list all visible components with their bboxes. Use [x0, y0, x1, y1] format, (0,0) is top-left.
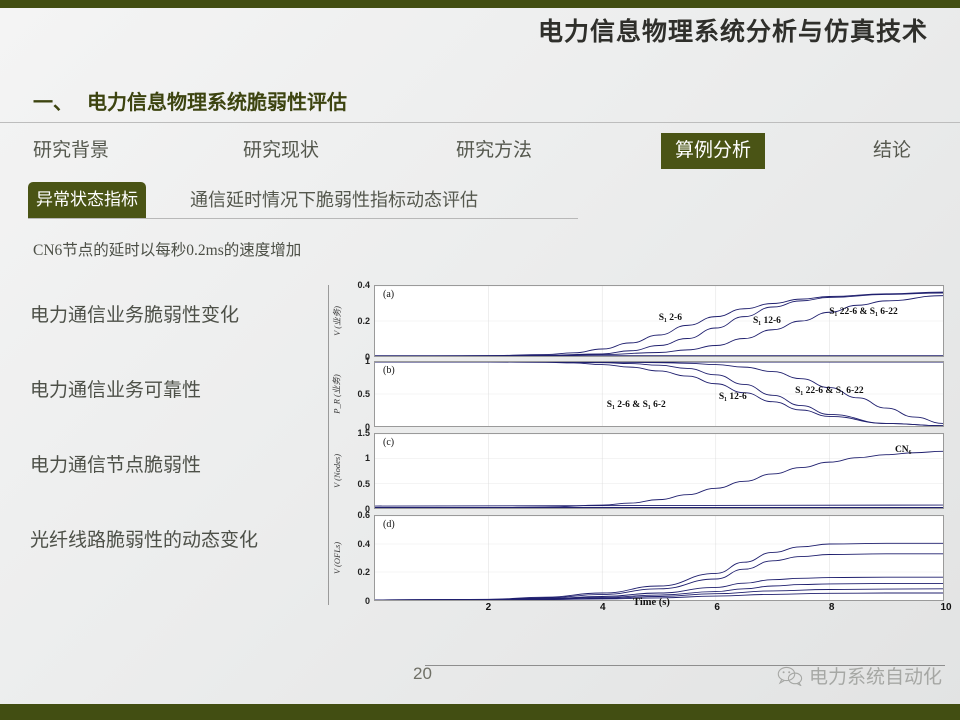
chart-b-yticks: 00.51	[346, 361, 372, 427]
wechat-icon	[777, 666, 803, 686]
presentation-title: 电力信息物理系统分析与仿真技术	[538, 12, 928, 48]
section-divider	[0, 122, 960, 123]
chart-d-svg	[375, 516, 943, 600]
top-accent-bar	[0, 0, 960, 8]
section-heading-text: 电力信息物理系统脆弱性评估	[87, 92, 347, 114]
chart-ytick-label: 1.5	[357, 428, 370, 438]
chart-d-ylabel: V (OFLs)	[330, 515, 344, 601]
chart-a-plot: (a) S₁ 2-6S₁ 12-6S₁ 22-6 & S₁ 6-22	[374, 285, 944, 357]
chart-xtick-label: 4	[600, 602, 606, 613]
metric-label-service-vulnerability: 电力通信业务脆弱性变化	[30, 300, 330, 327]
metric-label-service-reliability: 电力通信业务可靠性	[30, 375, 330, 402]
nav-tab-research-background[interactable]: 研究背景	[33, 133, 109, 169]
subsection-row: 异常状态指标 通信延时情况下脆弱性指标动态评估	[0, 182, 960, 218]
chart-ytick-label: 0	[365, 596, 370, 606]
metric-label-fiber-vulnerability: 光纤线路脆弱性的动态变化	[30, 525, 330, 552]
scenario-note: CN6节点的延时以每秒0.2ms的速度增加	[33, 238, 301, 260]
chart-curve-label: S₁ 12-6	[753, 316, 781, 326]
chart-c-panel-letter: (c)	[383, 437, 394, 448]
chart-ytick-label: 1	[365, 356, 370, 366]
chart-stack: V (业务) 00.20.4 (a) S₁ 2-6S₁ 12-6S₁ 22-6 …	[332, 285, 944, 615]
chart-xtick-label: 8	[829, 602, 835, 613]
chart-series-line	[375, 505, 943, 506]
chart-d-plot: (d)	[374, 515, 944, 601]
chart-curve-label: CN₆	[895, 445, 912, 455]
chart-xtick-label: 10	[940, 602, 951, 613]
subsection-title: 通信延时情况下脆弱性指标动态评估	[190, 182, 478, 218]
chart-series-line	[375, 292, 943, 356]
chart-curve-label: S₁ 22-6 & S₁ 6-22	[829, 307, 898, 317]
chart-d-panel-letter: (d)	[383, 519, 395, 530]
chart-ytick-label: 0.4	[357, 539, 370, 549]
chart-c-yticks: 00.511.5	[346, 433, 372, 509]
metric-label-list: 电力通信业务脆弱性变化 电力通信业务可靠性 电力通信节点脆弱性 光纤线路脆弱性的…	[30, 300, 330, 600]
chart-ytick-label: 0.5	[357, 479, 370, 489]
watermark: 电力系统自动化	[777, 662, 942, 689]
chart-a-yticks: 00.20.4	[346, 285, 372, 357]
chart-d-plotwrap: 00.20.40.6 (d)	[346, 515, 944, 601]
nav-tab-research-method[interactable]: 研究方法	[456, 133, 532, 169]
chart-curve-label: S₁ 22-6 & S₁ 6-22	[795, 386, 864, 396]
chart-curve-label: S₁ 2-6	[659, 313, 682, 323]
chart-panel-c: V (Nodes) 00.511.5 (c) CN₆	[332, 433, 944, 509]
chart-ytick-label: 1	[365, 453, 370, 463]
chart-ytick-label: 0.4	[357, 280, 370, 290]
chart-curve-label: S₁ 12-6	[719, 392, 747, 402]
subsection-tag[interactable]: 异常状态指标	[28, 182, 146, 218]
bottom-accent-bar	[0, 704, 960, 720]
chart-d-yticks: 00.20.40.6	[346, 515, 372, 601]
chart-series-line	[375, 296, 943, 356]
chart-xaxis-title: Time (s)	[633, 597, 670, 608]
section-heading: 一、电力信息物理系统脆弱性评估	[33, 86, 347, 115]
chart-series-line	[375, 293, 943, 356]
chart-series-line	[375, 543, 943, 600]
section-number: 一、	[33, 92, 73, 114]
chart-a-ylabel: V (业务)	[330, 285, 344, 357]
chart-xtick-label: 6	[714, 602, 720, 613]
chart-panel-b: P_R (业务) 00.51 (b) S₁ 2-6 & S₁ 6-2S₁ 12-…	[332, 361, 944, 427]
chart-xtick-label: 2	[486, 602, 492, 613]
chart-b-plotwrap: 00.51 (b) S₁ 2-6 & S₁ 6-2S₁ 12-6S₁ 22-6 …	[346, 361, 944, 427]
chart-a-panel-letter: (a)	[383, 289, 394, 300]
chart-b-plot: (b) S₁ 2-6 & S₁ 6-2S₁ 12-6S₁ 22-6 & S₁ 6…	[374, 361, 944, 427]
watermark-text: 电力系统自动化	[809, 662, 942, 689]
chart-c-svg	[375, 434, 943, 508]
slide-root: 电力信息物理系统分析与仿真技术 一、电力信息物理系统脆弱性评估 研究背景 研究现…	[0, 0, 960, 720]
chart-ytick-label: 0.5	[357, 389, 370, 399]
chart-panel-d: V (OFLs) 00.20.40.6 (d)	[332, 515, 944, 601]
chart-b-ylabel: P_R (业务)	[330, 361, 344, 427]
chart-ytick-label: 0.6	[357, 510, 370, 520]
chart-panel-a: V (业务) 00.20.4 (a) S₁ 2-6S₁ 12-6S₁ 22-6 …	[332, 285, 944, 357]
chart-c-ylabel: V (Nodes)	[330, 433, 344, 509]
chart-curve-label: S₁ 2-6 & S₁ 6-2	[607, 400, 666, 410]
metric-label-node-vulnerability: 电力通信节点脆弱性	[30, 450, 330, 477]
page-number: 20	[413, 664, 432, 684]
chart-c-plotwrap: 00.511.5 (c) CN₆	[346, 433, 944, 509]
nav-tabs: 研究背景 研究现状 研究方法 算例分析 结论	[0, 133, 960, 169]
chart-ytick-label: 0.2	[357, 567, 370, 577]
chart-c-plot: (c) CN₆	[374, 433, 944, 509]
content-vertical-divider	[328, 285, 329, 605]
nav-tab-research-status[interactable]: 研究现状	[243, 133, 319, 169]
chart-b-panel-letter: (b)	[383, 365, 395, 376]
subsection-underline	[28, 218, 578, 219]
nav-tab-case-analysis[interactable]: 算例分析	[661, 133, 765, 169]
chart-ytick-label: 0.2	[357, 316, 370, 326]
chart-a-plotwrap: 00.20.4 (a) S₁ 2-6S₁ 12-6S₁ 22-6 & S₁ 6-…	[346, 285, 944, 357]
chart-series-line	[375, 451, 943, 508]
nav-tab-conclusion[interactable]: 结论	[873, 133, 911, 169]
